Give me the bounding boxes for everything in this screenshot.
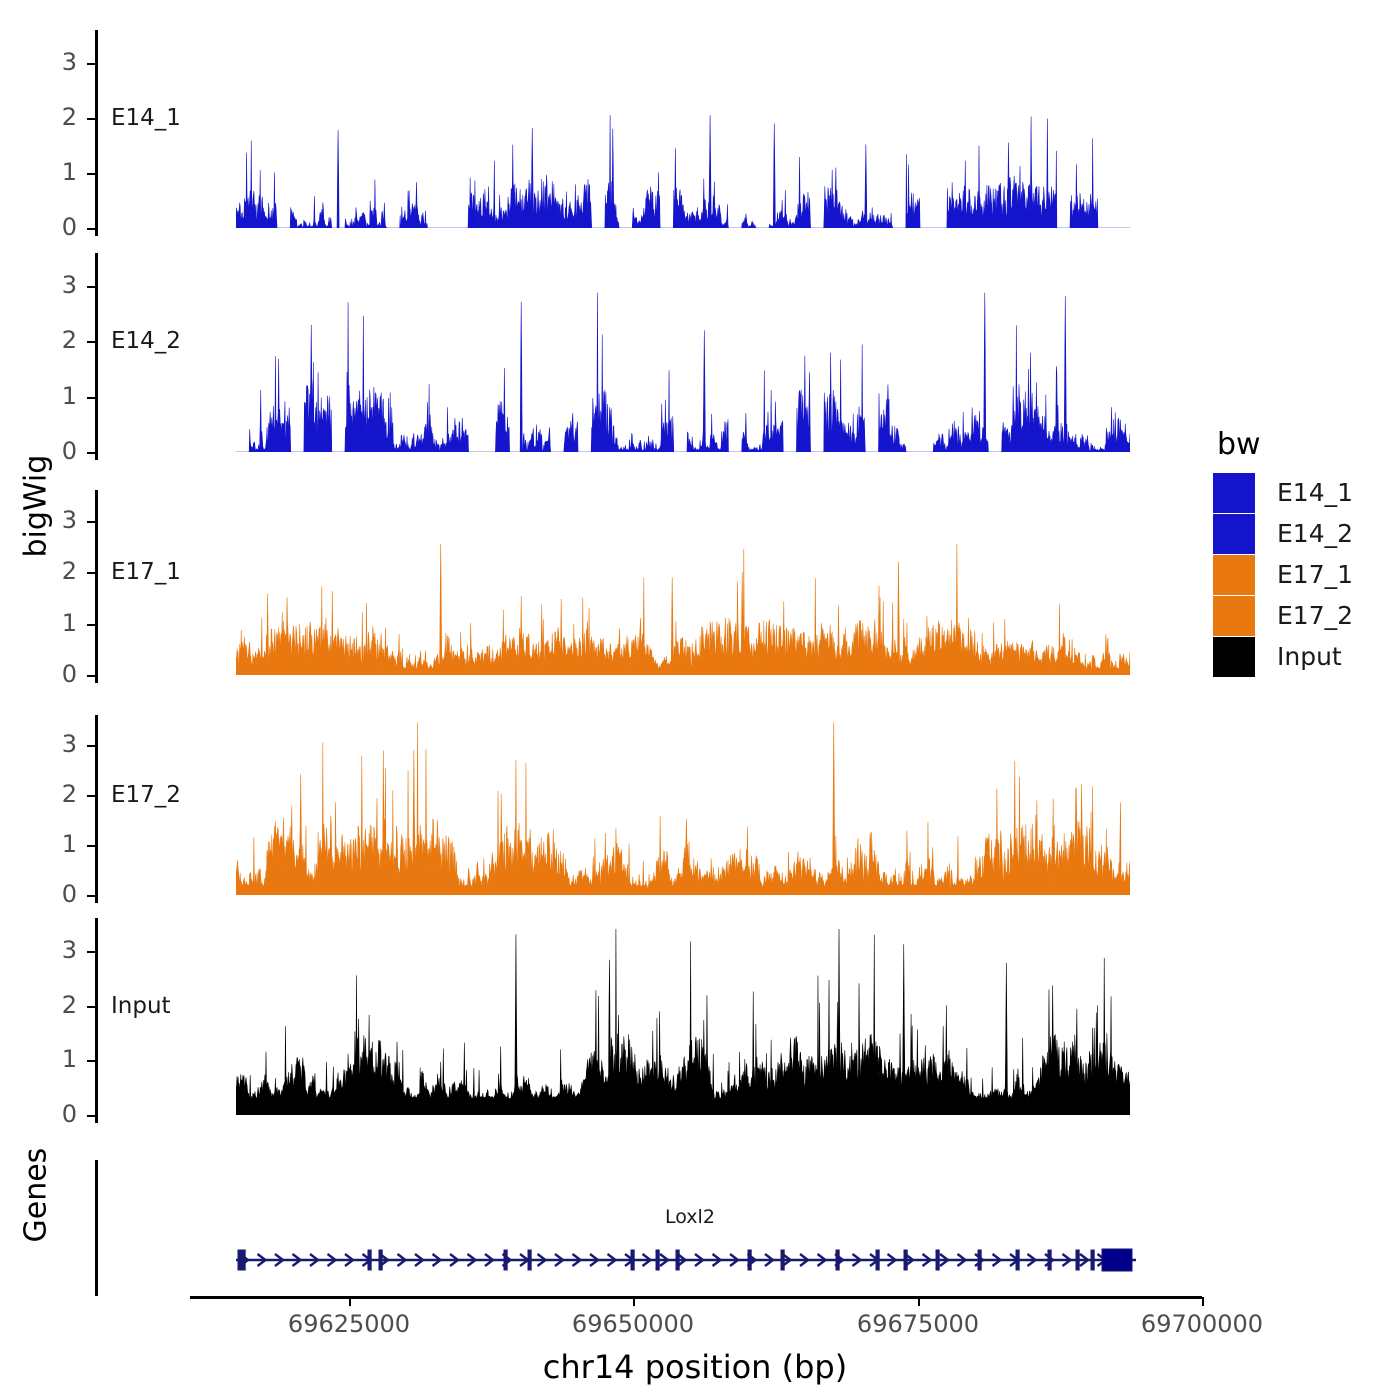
y-tick-e14_2-1 [87, 397, 96, 399]
y-ticklabel-e14_2-3: 3 [37, 273, 77, 297]
legend-item-input[interactable]: Input [1213, 636, 1393, 677]
x-ticklabel-69650000: 69650000 [533, 1312, 733, 1336]
track-label-input: Input [111, 993, 171, 1019]
y-ticklabel-e17_1-0: 0 [37, 662, 77, 686]
y-axis-line-e14_2 [95, 253, 98, 460]
signal-track-e14_2[interactable] [236, 253, 1130, 452]
y-tick-input-3 [87, 951, 96, 953]
gene-exon-tick [876, 1250, 879, 1270]
gene-exon-tick [656, 1250, 659, 1270]
y-axis-line-e14_1 [95, 30, 98, 236]
gene-exon-tick [1048, 1250, 1051, 1270]
gene-exon-tick [904, 1250, 907, 1270]
y-ticklabel-e17_2-0: 0 [37, 882, 77, 906]
gene-exon-tick [781, 1250, 784, 1270]
y-ticklabel-e17_2-3: 3 [37, 732, 77, 756]
legend-swatch-e14_2 [1213, 514, 1255, 554]
signal-area-input [236, 918, 1130, 1115]
signal-track-e14_1[interactable] [236, 30, 1130, 228]
legend-swatch-input [1213, 637, 1255, 677]
y-axis-line-e17_1 [95, 490, 98, 683]
x-axis-line [190, 1296, 1202, 1299]
y-ticklabel-e14_2-2: 2 [37, 328, 77, 352]
y-tick-e14_1-1 [87, 173, 96, 175]
track-label-e14_1: E14_1 [111, 105, 181, 131]
gene-exon-tick [238, 1250, 241, 1270]
y-tick-e17_1-3 [87, 521, 96, 523]
legend-items: E14_1E14_2E17_1E17_2Input [1213, 472, 1393, 677]
x-tick-69700000 [1202, 1297, 1204, 1306]
legend-label-e14_1: E14_1 [1277, 478, 1353, 507]
legend-title: bw [1217, 430, 1393, 460]
gene-exon-tick [504, 1250, 507, 1270]
gene-exon-tick [528, 1250, 531, 1270]
y-ticklabel-e14_2-1: 1 [37, 384, 77, 408]
y-ticklabel-input-3: 3 [37, 938, 77, 962]
signal-track-e17_2[interactable] [236, 715, 1130, 895]
gene-exon-tick [836, 1250, 839, 1270]
x-ticklabel-69625000: 69625000 [249, 1312, 449, 1336]
y-tick-e17_1-2 [87, 572, 96, 574]
y-axis-line-input [95, 918, 98, 1123]
track-label-e14_2: E14_2 [111, 328, 181, 354]
y-ticklabel-e14_2-0: 0 [37, 439, 77, 463]
legend-label-input: Input [1277, 642, 1342, 671]
y-tick-e14_2-3 [87, 286, 96, 288]
legend-item-e17_1[interactable]: E17_1 [1213, 554, 1393, 595]
gene-exon-tick [368, 1250, 371, 1270]
y-tick-e17_1-0 [87, 675, 96, 677]
legend-label-e14_2: E14_2 [1277, 519, 1353, 548]
y-tick-input-0 [87, 1115, 96, 1117]
y-tick-e17_2-3 [87, 745, 96, 747]
signal-area-e14_1 [236, 30, 1130, 228]
gene-exon-tick [1076, 1250, 1079, 1270]
gene-exon-tick [379, 1250, 382, 1270]
legend-item-e14_2[interactable]: E14_2 [1213, 513, 1393, 554]
gene-exon-tick [936, 1250, 939, 1270]
signal-track-input[interactable] [236, 918, 1130, 1115]
signal-area-e14_2 [236, 253, 1130, 452]
gene-exon-tick [676, 1250, 679, 1270]
gene-terminal-exon [1102, 1249, 1132, 1271]
genes-axis-line [95, 1160, 98, 1296]
legend-label-e17_2: E17_2 [1277, 601, 1353, 630]
y-tick-input-1 [87, 1060, 96, 1062]
x-tick-69625000 [349, 1297, 351, 1306]
gene-label: Loxl2 [665, 1206, 715, 1228]
legend-item-e17_2[interactable]: E17_2 [1213, 595, 1393, 636]
legend-swatch-e17_2 [1213, 596, 1255, 636]
y-tick-e14_1-0 [87, 228, 96, 230]
y-axis-line-e17_2 [95, 715, 98, 903]
y-tick-e14_2-2 [87, 341, 96, 343]
gene-exon-tick [1091, 1250, 1094, 1270]
y-tick-e14_2-0 [87, 452, 96, 454]
y-tick-e14_1-3 [87, 63, 96, 65]
signal-area-e17_1 [236, 490, 1130, 675]
y-ticklabel-input-1: 1 [37, 1047, 77, 1071]
gene-exon-tick [748, 1250, 751, 1270]
gene-exon-tick [1016, 1250, 1019, 1270]
gene-model[interactable] [236, 1243, 1136, 1277]
track-label-e17_1: E17_1 [111, 559, 181, 585]
x-tick-69675000 [918, 1297, 920, 1306]
y-tick-e14_1-2 [87, 118, 96, 120]
legend-item-e14_1[interactable]: E14_1 [1213, 472, 1393, 513]
gene-model-svg [236, 1243, 1136, 1277]
y-tick-e17_2-0 [87, 895, 96, 897]
x-tick-69650000 [633, 1297, 635, 1306]
y-tick-e17_1-1 [87, 624, 96, 626]
signal-track-e17_1[interactable] [236, 490, 1130, 675]
gene-exon-tick [242, 1250, 245, 1270]
x-ticklabel-69675000: 69675000 [818, 1312, 1018, 1336]
legend-swatch-e14_1 [1213, 473, 1255, 513]
y-ticklabel-e17_1-3: 3 [37, 508, 77, 532]
y-ticklabel-e14_1-2: 2 [37, 105, 77, 129]
x-ticklabel-69700000: 69700000 [1102, 1312, 1302, 1336]
y-ticklabel-e17_1-1: 1 [37, 611, 77, 635]
x-axis-title: chr14 position (bp) [190, 1348, 1200, 1386]
y-tick-e17_2-1 [87, 845, 96, 847]
legend-label-e17_1: E17_1 [1277, 560, 1353, 589]
signal-area-e17_2 [236, 715, 1130, 895]
y-tick-e17_2-2 [87, 795, 96, 797]
gene-exon-tick [631, 1250, 634, 1270]
y-ticklabel-e17_2-2: 2 [37, 782, 77, 806]
track-label-e17_2: E17_2 [111, 782, 181, 808]
y-ticklabel-e14_1-3: 3 [37, 50, 77, 74]
y-ticklabel-e14_1-1: 1 [37, 160, 77, 184]
y-ticklabel-e14_1-0: 0 [37, 215, 77, 239]
y-ticklabel-e17_2-1: 1 [37, 832, 77, 856]
y-ticklabel-e17_1-2: 2 [37, 559, 77, 583]
y-ticklabel-input-2: 2 [37, 993, 77, 1017]
legend: bw E14_1E14_2E17_1E17_2Input [1213, 430, 1393, 677]
y-ticklabel-input-0: 0 [37, 1102, 77, 1126]
y-tick-input-2 [87, 1006, 96, 1008]
gene-exon-tick [978, 1250, 981, 1270]
genes-row-title: Genes [19, 1183, 54, 1243]
legend-swatch-e17_1 [1213, 555, 1255, 595]
